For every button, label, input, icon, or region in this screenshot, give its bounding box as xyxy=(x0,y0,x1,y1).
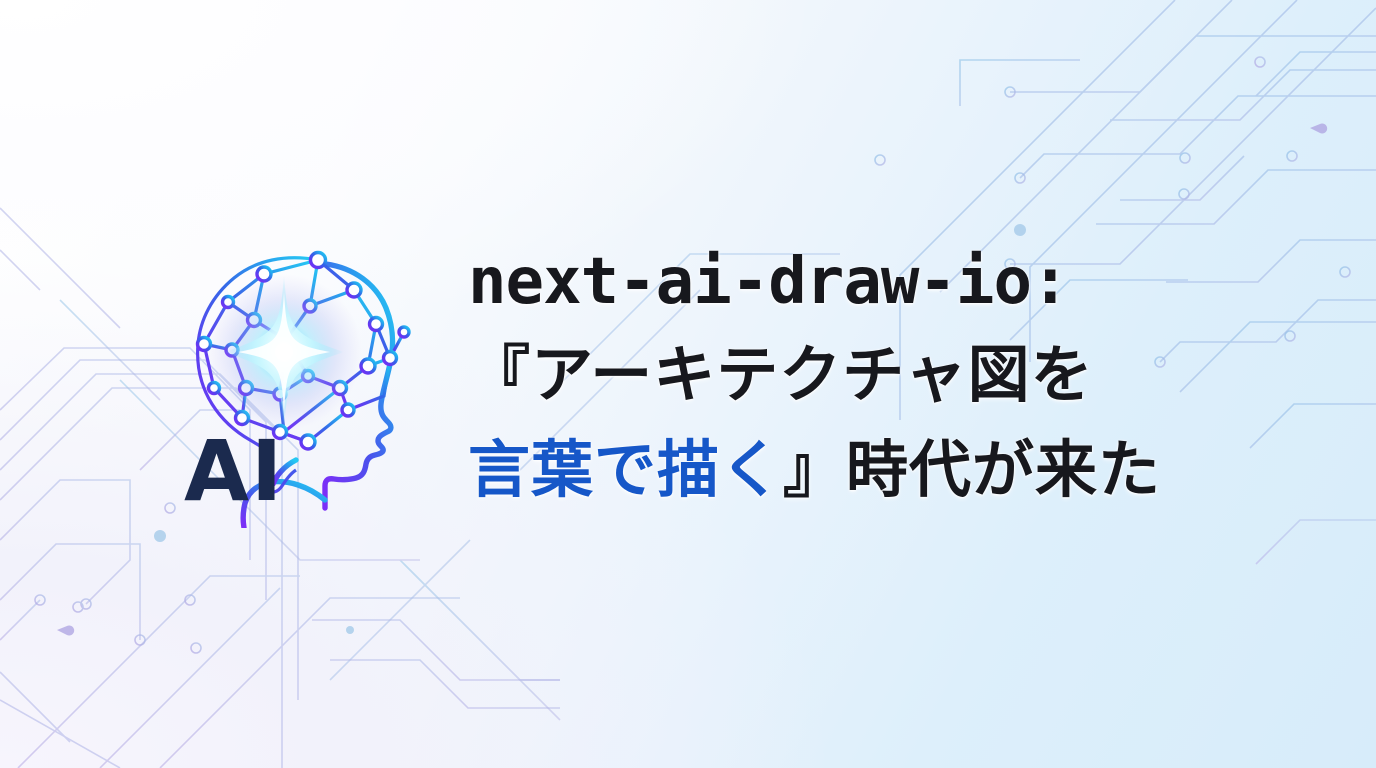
headline-block: next-ai-draw-io: 『アーキテクチャ図を 言葉で描く』時代が来た xyxy=(468,250,1298,514)
headline-line-1: next-ai-draw-io: xyxy=(468,250,1298,324)
headline-line-2-text: アーキテクチャ図を xyxy=(531,338,1094,411)
close-bracket: 』 xyxy=(783,433,846,506)
headline-line-3: 言葉で描く』時代が来た xyxy=(468,439,1298,514)
open-bracket: 『 xyxy=(468,338,531,411)
logo-wordmark: AI xyxy=(184,422,284,520)
headline-line-2: 『アーキテクチャ図を xyxy=(468,344,1298,419)
title-card-canvas: AI next-ai-draw-io: 『アーキテクチャ図を 言葉で描く』時代が… xyxy=(0,0,1376,768)
ai-brain-logo: AI xyxy=(168,228,438,528)
headline-accent-text: 言葉で描く xyxy=(468,433,783,506)
circuit-traces-bottom-right xyxy=(1256,520,1376,600)
star-glow-icon xyxy=(206,274,362,430)
headline-line-3-rest: 時代が来た xyxy=(846,433,1161,506)
